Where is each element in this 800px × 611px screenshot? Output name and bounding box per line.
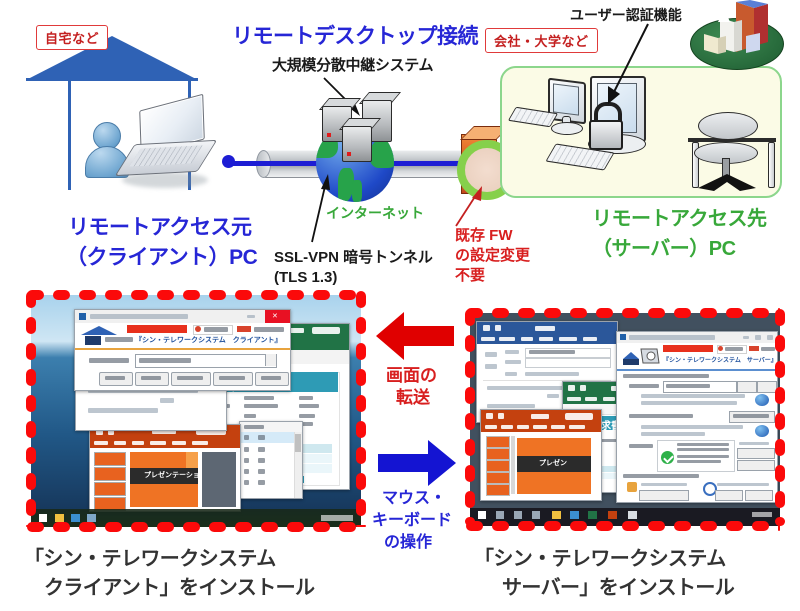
house-post-left [68,80,71,190]
banner-subtitle: 『シン・テレワークシステム サーバー』 [663,355,777,364]
house-eave [26,78,198,81]
label-fw-line3: 不要 [455,268,485,285]
label-fw-line2: の設定変更 [455,248,530,265]
subtitle-distributed-relay-system: 大規模分散中継システム [272,58,433,75]
taskbar-icon[interactable] [55,514,64,522]
banner-ipa [127,325,187,333]
config-button[interactable] [737,381,757,393]
slide-title: プレゼンテーション [144,470,207,480]
label-sslvpn-line2: (TLS 1.3) [274,270,337,287]
taskbar-icon[interactable] [514,511,522,519]
screen-transfer-arrow [374,310,458,362]
powerpoint-window[interactable]: プレゼン [480,409,602,501]
caption-server-line1: 「シン・テレワークシステム [474,548,726,570]
caption-server-line2: サーバー」をインストール [502,577,734,599]
label-screen-transfer-line1: 画面の [386,366,437,385]
leader-user-auth-line [596,22,658,106]
screenshot-server[interactable]: ご請求書 プレゼン [470,313,780,526]
label-internet: インターネット [326,206,424,222]
label-input-line2: キーボード [372,512,452,530]
taskbar-icon[interactable] [552,511,561,519]
label-input-line1: マウス・ [382,490,446,508]
taskbar[interactable] [31,509,361,527]
start-button[interactable] [39,514,47,522]
taskbar-icon[interactable] [532,511,540,519]
config-button[interactable] [639,490,689,501]
banner-nttlogo [749,346,759,351]
caption-client-line2: クライアント」をインストール [44,577,314,599]
label-office: 会社・大学など [485,28,598,53]
banner-ipa [663,345,713,352]
banner-subtitle: 『シン・テレワークシステム クライアント』 [135,335,282,345]
system-tray[interactable] [321,515,353,521]
taskbar-icon[interactable] [87,514,96,522]
system-tray[interactable] [752,512,772,517]
label-server-pc-line1: リモートアクセス先 [592,208,767,230]
powerpoint-window[interactable]: プレゼンテーション [89,424,241,512]
connection-endpoint-dot [222,155,235,168]
server-banner-icon [621,345,661,367]
label-home: 自宅など [36,25,108,50]
label-sslvpn-line1: SSL-VPN 暗号トンネル [274,250,433,267]
label-server-pc-line2: （サーバー）PC [592,238,736,260]
config-button[interactable] [737,460,775,471]
slide-title: プレゼン [539,458,567,468]
top-diagram: 自宅など リモートデスクトップ接続 大規模分散中継システム [0,0,800,290]
input-control-arrow [374,438,458,488]
label-client-pc-line1: リモートアクセス元 [68,216,251,240]
lock-icon [627,482,637,492]
title-remote-desktop-connection: リモートデスクトップ接続 [232,25,478,49]
taskbar-icon[interactable] [588,511,597,519]
config-button[interactable] [715,490,743,501]
taskbar-icon[interactable] [496,511,504,519]
ime-candidate-list[interactable] [239,421,303,499]
taskbar-icon[interactable] [71,514,80,522]
leader-sslvpn-arrow [292,172,336,246]
banner-nttlogo [237,326,251,332]
taskbar-icon[interactable] [570,511,579,519]
flow-arrows: 画面の 転送 マウス・ キーボード の操作 [368,300,468,540]
config-button[interactable] [745,490,773,501]
screenshot-client[interactable]: ご請求書 [31,295,361,527]
caption-client-line1: 「シン・テレワークシステム [24,548,276,570]
leader-firewall-arrow [452,186,496,230]
taskbar-icon[interactable] [628,511,637,519]
label-fw-line1: 既存 FW [455,228,513,245]
server-config-window[interactable]: 『シン・テレワークシステム サーバー』 [616,331,778,503]
taskbar-icon[interactable] [608,511,617,519]
config-button[interactable] [737,448,775,459]
client-connect-dialog[interactable]: ✕ 『シン・テレワークシステム クライアント』 [74,309,291,391]
label-input-line3: の操作 [384,534,432,552]
start-button[interactable] [478,511,486,519]
config-button[interactable] [757,381,777,393]
label-client-pc-line2: （クライアント）PC [66,246,257,270]
label-screen-transfer-line2: 転送 [396,388,430,407]
